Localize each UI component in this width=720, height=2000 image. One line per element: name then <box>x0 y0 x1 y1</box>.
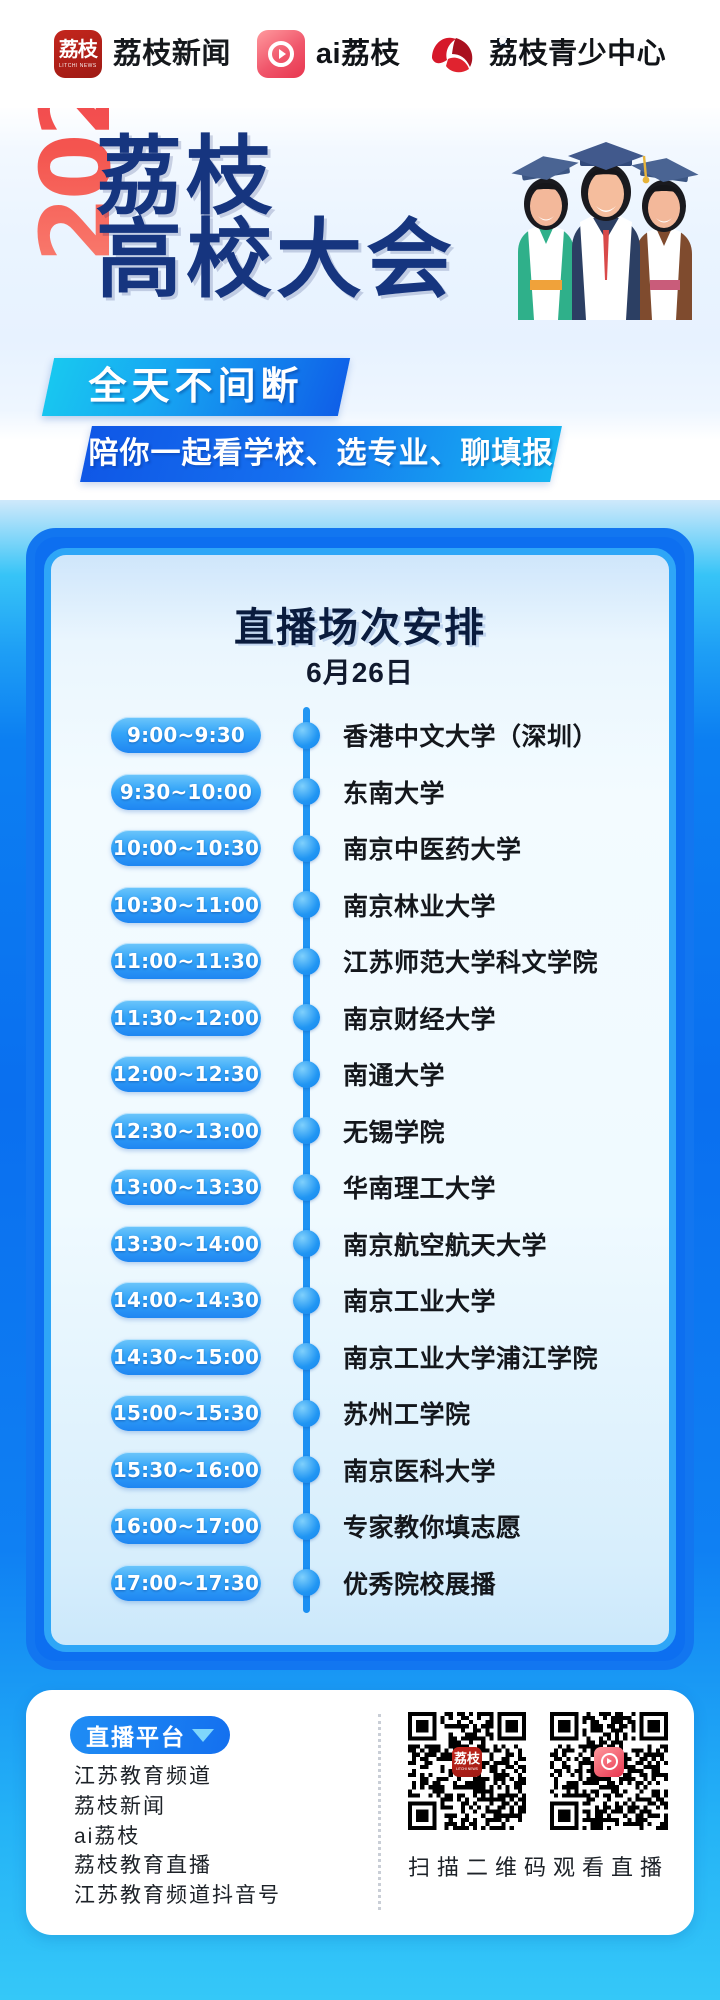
brand-litchi-youth-label: 荔枝青少中心 <box>489 40 666 69</box>
timeline-dot-icon <box>293 1513 320 1540</box>
schedule-school-name: 专家教你填志愿 <box>343 1508 522 1544</box>
schedule-school-name: 优秀院校展播 <box>343 1565 496 1601</box>
platform-list-item: 荔枝新闻 <box>74 1792 354 1822</box>
qr-litchi-news[interactable]: 荔枝LITCHI NEWS <box>408 1712 526 1830</box>
schedule-row: 13:30~14:00南京航空航天大学 <box>51 1216 669 1273</box>
schedule-school-name: 南京医科大学 <box>343 1452 496 1488</box>
schedule-school-name: 无锡学院 <box>343 1113 445 1149</box>
brand-litchi-news-label: 荔枝新闻 <box>113 40 231 69</box>
schedule-row: 9:30~10:00东南大学 <box>51 764 669 821</box>
live-platform-badge-label: 直播平台 <box>86 1718 186 1752</box>
footer-divider <box>378 1714 381 1910</box>
schedule-school-name: 南京中医药大学 <box>343 830 522 866</box>
schedule-row: 15:30~16:00南京医科大学 <box>51 1442 669 1499</box>
poster-root: 荔枝 LITCHI NEWS 荔枝新闻 ai荔枝 荔枝青少中心 2025 荔枝 … <box>0 0 720 2000</box>
litchi-logo-icon: 荔枝LITCHI NEWS <box>452 1747 482 1777</box>
brand-header: 荔枝 LITCHI NEWS 荔枝新闻 ai荔枝 荔枝青少中心 <box>0 0 720 108</box>
schedule-time-pill: 14:30~15:00 <box>111 1339 261 1375</box>
ai-litchi-logo-icon <box>594 1747 624 1777</box>
timeline-dot-icon <box>293 778 320 805</box>
scan-instruction: 扫描二维码观看直播 <box>408 1850 680 1882</box>
schedule-time-pill: 15:30~16:00 <box>111 1452 261 1488</box>
schedule-time-pill: 13:00~13:30 <box>111 1169 261 1205</box>
brand-litchi-news[interactable]: 荔枝 LITCHI NEWS 荔枝新闻 <box>54 30 231 78</box>
hero-band-secondary-text: 陪你一起看学校、选专业、聊填报 <box>86 426 556 482</box>
timeline-dot-icon <box>293 948 320 975</box>
schedule-row: 14:30~15:00南京工业大学浦江学院 <box>51 1329 669 1386</box>
schedule-time-pill: 11:30~12:00 <box>111 1000 261 1036</box>
timeline-dot-icon <box>293 835 320 862</box>
timeline-dot-icon <box>293 1287 320 1314</box>
timeline-dot-icon <box>293 1343 320 1370</box>
schedule-list: 9:00~9:30香港中文大学（深圳）9:30~10:00东南大学10:00~1… <box>51 707 669 1611</box>
schedule-time-pill: 14:00~14:30 <box>111 1282 261 1318</box>
schedule-time-pill: 12:30~13:00 <box>111 1113 261 1149</box>
qr-ai-litchi[interactable] <box>550 1712 668 1830</box>
schedule-school-name: 苏州工学院 <box>343 1395 471 1431</box>
schedule-row: 14:00~14:30南京工业大学 <box>51 1272 669 1329</box>
schedule-time-pill: 17:00~17:30 <box>111 1565 261 1601</box>
live-platform-badge[interactable]: 直播平台 <box>70 1716 230 1754</box>
timeline-dot-icon <box>293 1400 320 1427</box>
timeline-dot-icon <box>293 1456 320 1483</box>
litchi-mark-text: 荔枝 <box>59 40 97 60</box>
ai-litchi-logo-icon <box>257 30 305 78</box>
schedule-time-pill: 11:00~11:30 <box>111 943 261 979</box>
timeline-dot-icon <box>293 891 320 918</box>
schedule-row: 11:30~12:00南京财经大学 <box>51 990 669 1047</box>
timeline-dot-icon <box>293 722 320 749</box>
schedule-row: 12:00~12:30南通大学 <box>51 1046 669 1103</box>
platform-list-item: 江苏教育频道 <box>74 1762 354 1792</box>
schedule-school-name: 香港中文大学（深圳） <box>343 717 598 753</box>
hero-section: 2025 荔枝 高校大会 <box>0 108 720 508</box>
graduates-illustration <box>500 130 710 320</box>
schedule-school-name: 南京工业大学 <box>343 1282 496 1318</box>
schedule-time-pill: 12:00~12:30 <box>111 1056 261 1092</box>
timeline-dot-icon <box>293 1174 320 1201</box>
schedule-row: 10:30~11:00南京林业大学 <box>51 877 669 934</box>
schedule-row: 16:00~17:00专家教你填志愿 <box>51 1498 669 1555</box>
brand-litchi-youth[interactable]: 荔枝青少中心 <box>426 32 666 76</box>
timeline-dot-icon <box>293 1569 320 1596</box>
schedule-row: 17:00~17:30优秀院校展播 <box>51 1555 669 1612</box>
timeline-dot-icon <box>293 1061 320 1088</box>
schedule-time-pill: 10:00~10:30 <box>111 830 261 866</box>
hero-band-primary-text: 全天不间断 <box>48 358 344 416</box>
timeline-dot-icon <box>293 1230 320 1257</box>
schedule-row: 9:00~9:30香港中文大学（深圳） <box>51 707 669 764</box>
schedule-school-name: 南京林业大学 <box>343 887 496 923</box>
platform-list-item: ai荔枝 <box>74 1822 354 1852</box>
page-title-line2: 高校大会 <box>96 219 456 302</box>
schedule-time-pill: 9:00~9:30 <box>111 717 261 753</box>
litchi-mark-en: LITCHI NEWS <box>59 63 97 69</box>
schedule-row: 10:00~10:30南京中医药大学 <box>51 820 669 877</box>
schedule-date: 6月26日 <box>51 651 669 691</box>
schedule-time-pill: 16:00~17:00 <box>111 1508 261 1544</box>
schedule-time-pill: 10:30~11:00 <box>111 887 261 923</box>
schedule-school-name: 华南理工大学 <box>343 1169 496 1205</box>
schedule-school-name: 东南大学 <box>343 774 445 810</box>
chevron-down-icon <box>192 1729 214 1742</box>
hero-band-secondary: 陪你一起看学校、选专业、聊填报 <box>80 426 562 482</box>
qr-code-area: 荔枝LITCHI NEWS <box>408 1712 678 1830</box>
schedule-time-pill: 13:30~14:00 <box>111 1226 261 1262</box>
hero-band-primary: 全天不间断 <box>42 358 350 416</box>
schedule-row: 13:00~13:30华南理工大学 <box>51 1159 669 1216</box>
schedule-title: 直播场次安排 <box>51 595 669 653</box>
schedule-time-pill: 15:00~15:30 <box>111 1395 261 1431</box>
footer-card: 直播平台 江苏教育频道荔枝新闻ai荔枝荔枝教育直播江苏教育频道抖音号 荔枝LIT… <box>26 1690 694 1935</box>
page-title: 荔枝 高校大会 <box>96 136 456 301</box>
schedule-school-name: 南京工业大学浦江学院 <box>343 1339 598 1375</box>
timeline-dot-icon <box>293 1117 320 1144</box>
page-title-line1: 荔枝 <box>96 136 456 219</box>
schedule-school-name: 南京航空航天大学 <box>343 1226 547 1262</box>
litchi-youth-center-logo-icon <box>426 32 478 76</box>
timeline-dot-icon <box>293 1004 320 1031</box>
platform-list-item: 江苏教育频道抖音号 <box>74 1881 354 1911</box>
schedule-row: 12:30~13:00无锡学院 <box>51 1103 669 1160</box>
schedule-school-name: 南通大学 <box>343 1056 445 1092</box>
schedule-time-pill: 9:30~10:00 <box>111 774 261 810</box>
schedule-row: 11:00~11:30江苏师范大学科文学院 <box>51 933 669 990</box>
schedule-school-name: 江苏师范大学科文学院 <box>343 943 598 979</box>
schedule-school-name: 南京财经大学 <box>343 1000 496 1036</box>
brand-ai-litchi[interactable]: ai荔枝 <box>257 30 400 78</box>
platform-list: 江苏教育频道荔枝新闻ai荔枝荔枝教育直播江苏教育频道抖音号 <box>74 1762 354 1911</box>
schedule-panel: 直播场次安排 6月26日 9:00~9:30香港中文大学（深圳）9:30~10:… <box>44 548 676 1652</box>
brand-ai-litchi-label: ai荔枝 <box>316 40 400 69</box>
litchi-news-logo-icon: 荔枝 LITCHI NEWS <box>54 30 102 78</box>
schedule-row: 15:00~15:30苏州工学院 <box>51 1385 669 1442</box>
platform-list-item: 荔枝教育直播 <box>74 1851 354 1881</box>
